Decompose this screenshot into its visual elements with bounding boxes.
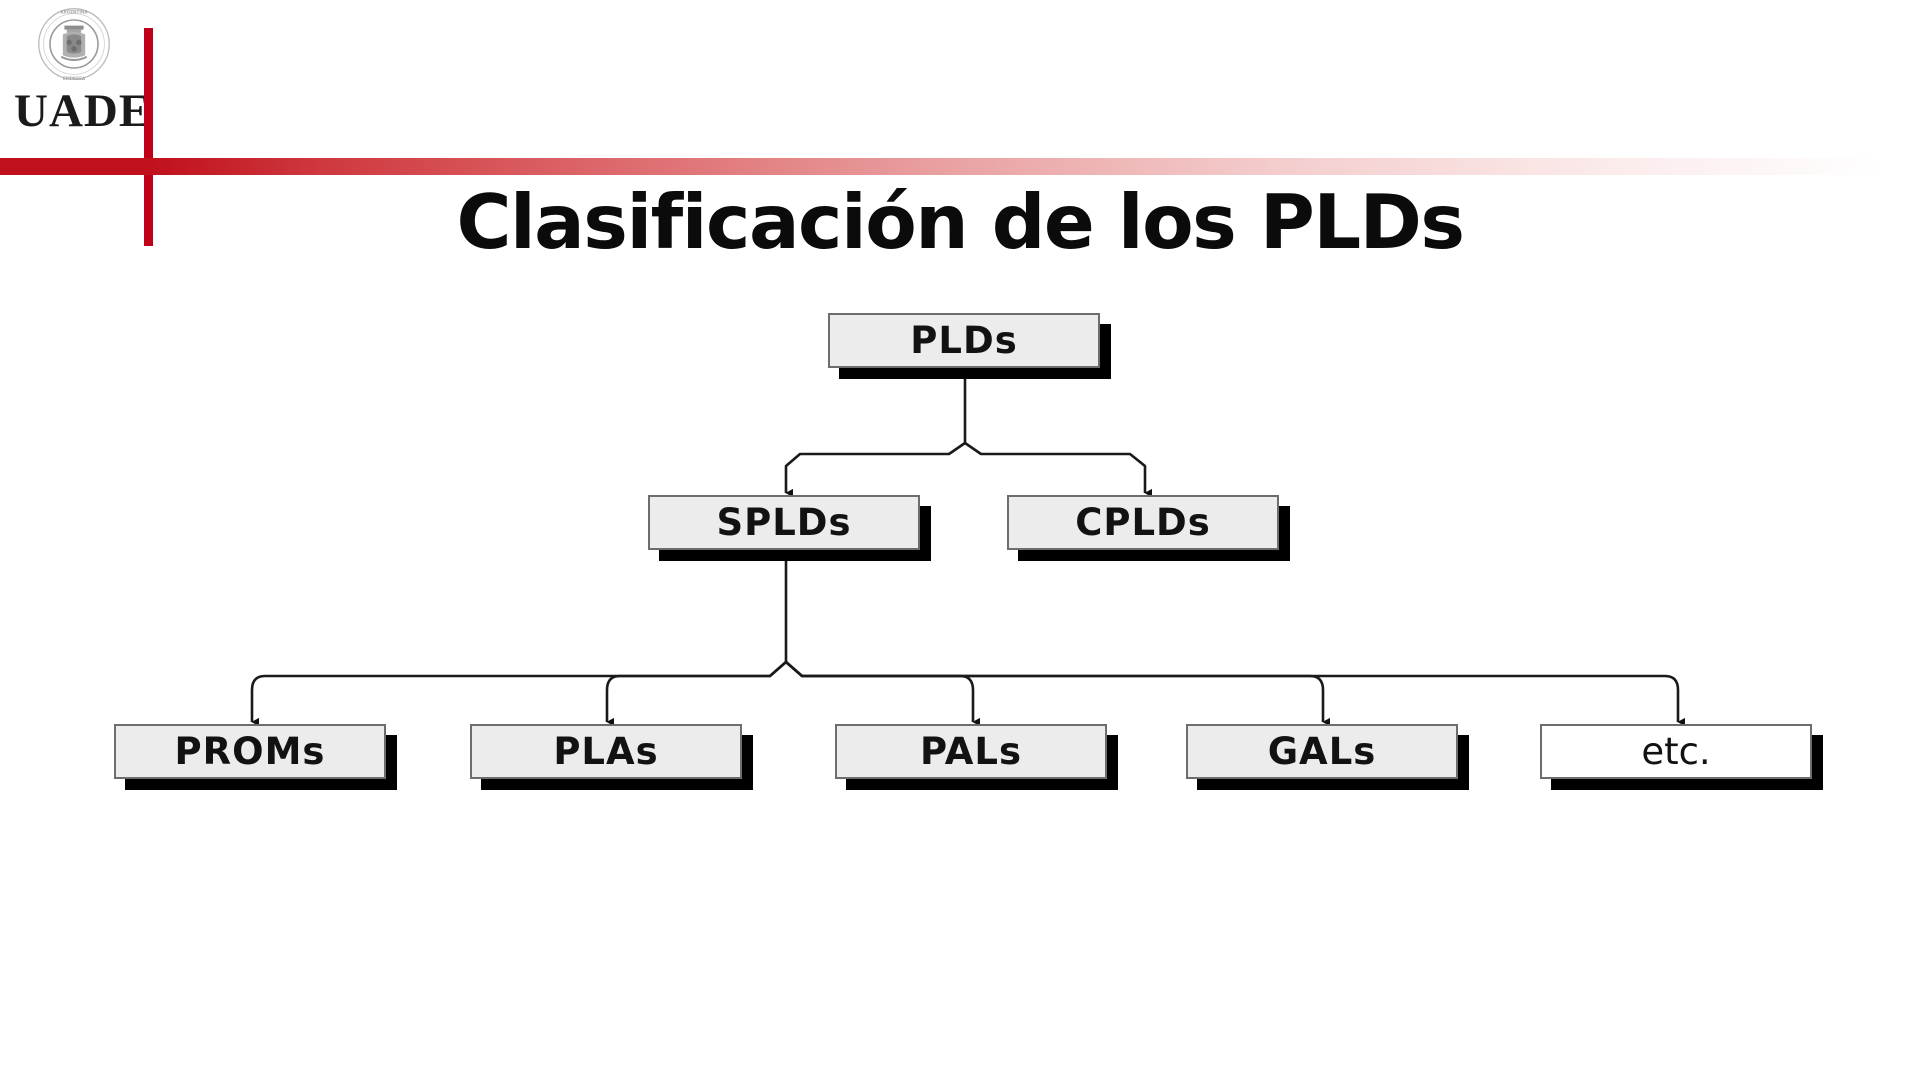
university-crest-icon: ARGENTINA EMPRESA: [34, 4, 114, 84]
node-label: CPLDs: [1075, 504, 1211, 541]
node-box: CPLDs: [1007, 495, 1279, 550]
node-box: SPLDs: [648, 495, 920, 550]
node-label: etc.: [1641, 733, 1710, 770]
node-gals[interactable]: GALs: [1186, 724, 1458, 779]
node-box: PROMs: [114, 724, 386, 779]
node-box: GALs: [1186, 724, 1458, 779]
node-box: PALs: [835, 724, 1107, 779]
node-plds[interactable]: PLDs: [828, 313, 1100, 368]
node-box: PLDs: [828, 313, 1100, 368]
pld-classification-diagram: PLDs SPLDs CPLDs PROMs PLAs PALs: [0, 290, 1920, 930]
svg-text:EMPRESA: EMPRESA: [63, 76, 86, 81]
diagram-connectors: [0, 290, 1920, 930]
node-splds[interactable]: SPLDs: [648, 495, 920, 550]
page-title: Clasificación de los PLDs: [0, 178, 1920, 266]
node-plas[interactable]: PLAs: [470, 724, 742, 779]
node-label: GALs: [1268, 733, 1377, 770]
node-box: PLAs: [470, 724, 742, 779]
node-label: PROMs: [175, 733, 326, 770]
node-pals[interactable]: PALs: [835, 724, 1107, 779]
node-label: PALs: [920, 733, 1022, 770]
node-etc[interactable]: etc.: [1540, 724, 1812, 779]
uade-logo: ARGENTINA EMPRESA UADE: [8, 2, 128, 152]
node-cplds[interactable]: CPLDs: [1007, 495, 1279, 550]
node-label: SPLDs: [716, 504, 851, 541]
node-proms[interactable]: PROMs: [114, 724, 386, 779]
header-rule-horizontal: [0, 158, 1920, 175]
node-label: PLDs: [910, 322, 1017, 359]
svg-text:ARGENTINA: ARGENTINA: [60, 10, 88, 15]
node-box: etc.: [1540, 724, 1812, 779]
node-label: PLAs: [553, 733, 658, 770]
uade-wordmark: UADE: [14, 84, 132, 138]
